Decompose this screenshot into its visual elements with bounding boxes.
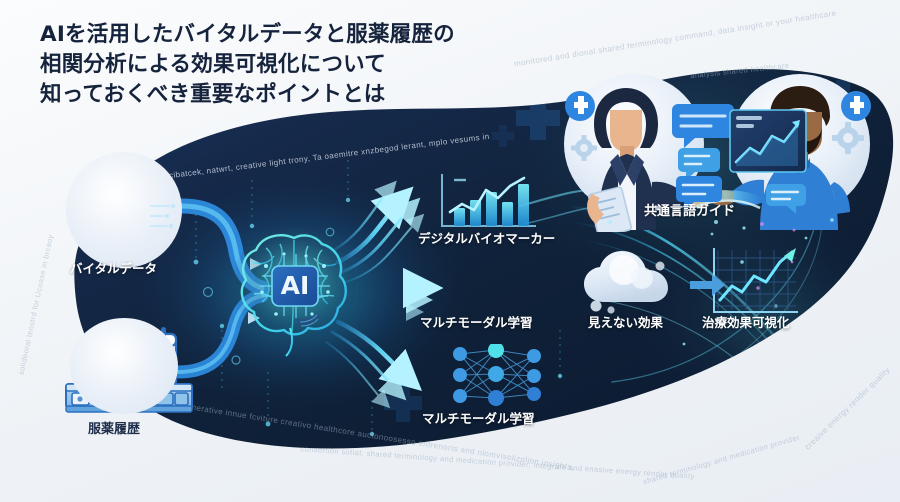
medication-history-halo xyxy=(70,318,178,414)
output-multimodal-waveform[interactable] xyxy=(434,252,586,310)
headline: AIを活用したバイタルデータと服薬履歴の 相関分析による効果可視化について 知っ… xyxy=(40,20,560,110)
line-bar-chart-icon xyxy=(432,168,544,234)
medical-cross-icon xyxy=(565,91,595,121)
input-vital-data-label: バイタルデータ xyxy=(70,258,157,277)
outcome-right-arrow-icon xyxy=(690,272,726,298)
ai-chip-label: AI xyxy=(281,271,310,300)
headline-line-2: 相関分析による効果可視化について xyxy=(40,50,560,80)
input-medication-history-label: 服薬履歴 xyxy=(88,418,140,437)
collaboration-label: 共通言語ガイド xyxy=(644,200,735,219)
outcome-invisible-effect-label: 見えない効果 xyxy=(588,312,663,331)
neural-network-icon xyxy=(446,344,550,406)
outcome-visualization-label: 治療効果可視化 xyxy=(702,312,790,331)
glowing-brain-circuit-icon: AI xyxy=(236,222,356,362)
headline-line-3: 知っておくべき重要なポイントとは xyxy=(40,80,560,110)
input-medication-history[interactable] xyxy=(56,318,200,422)
ai-brain-core[interactable]: AI xyxy=(236,222,356,362)
input-vital-data[interactable] xyxy=(66,152,194,270)
infographic-canvas: monitored and dional shared terminology … xyxy=(0,0,900,502)
headline-line-1: AIを活用したバイタルデータと服薬履歴の xyxy=(40,20,560,50)
outcome-invisible-effect[interactable] xyxy=(578,248,688,314)
trend-chart-panel-icon xyxy=(730,110,806,172)
output-digital-biomarker[interactable] xyxy=(432,168,544,234)
audio-waveform-icon xyxy=(434,252,586,310)
medical-cross-icon-right xyxy=(841,91,871,121)
cloud-icon xyxy=(578,248,688,314)
output-multimodal-network[interactable] xyxy=(446,344,550,406)
output-multimodal-waveform-label: マルチモーダル学習 xyxy=(420,312,533,331)
watch-circuit-stub-icon xyxy=(148,196,194,236)
output-multimodal-network-label: マルチモーダル学習 xyxy=(422,408,535,427)
output-digital-biomarker-label: デジタルバイオマーカー xyxy=(418,228,555,247)
